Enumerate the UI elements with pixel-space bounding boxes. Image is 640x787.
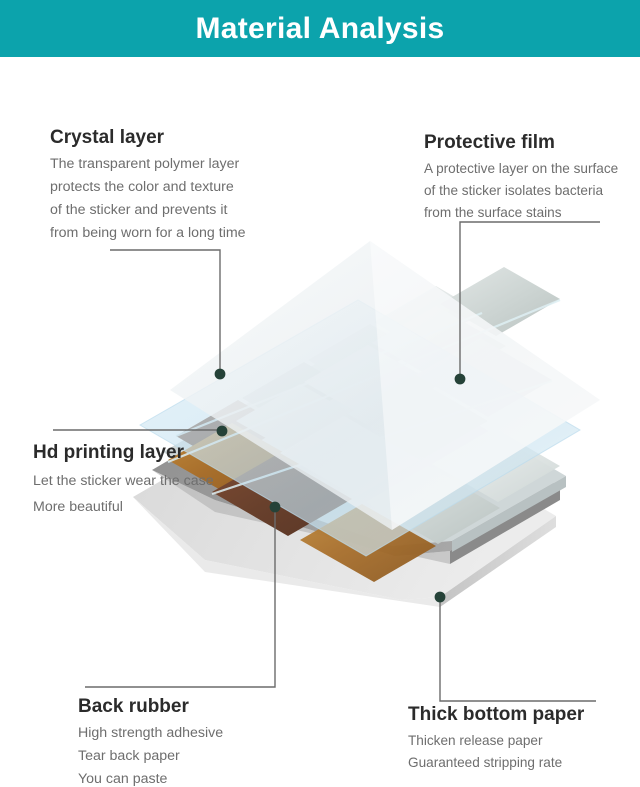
dot-back bbox=[270, 502, 281, 513]
callout-title-back-rubber: Back rubber bbox=[78, 695, 223, 719]
callout-crystal-layer: Crystal layer The transparent polymer la… bbox=[50, 126, 246, 245]
callout-line: of the sticker isolates bacteria bbox=[424, 180, 618, 202]
callout-line: Guaranteed stripping rate bbox=[408, 752, 584, 774]
dot-hd bbox=[217, 426, 228, 437]
callout-line: The transparent polymer layer bbox=[50, 153, 246, 176]
leader-thick bbox=[440, 597, 596, 701]
callout-line: More beautiful bbox=[33, 494, 214, 520]
callout-line: Let the sticker wear the case bbox=[33, 468, 214, 494]
dot-thick bbox=[435, 592, 446, 603]
callout-thick-bottom-paper: Thick bottom paper Thicken release paper… bbox=[408, 703, 584, 774]
callout-title-thick-bottom-paper: Thick bottom paper bbox=[408, 703, 584, 727]
callout-line: protects the color and texture bbox=[50, 176, 246, 199]
dot-crystal bbox=[215, 369, 226, 380]
callout-line: Tear back paper bbox=[78, 745, 223, 768]
callout-back-rubber: Back rubber High strength adhesive Tear … bbox=[78, 695, 223, 787]
callout-hd-printing-layer: Hd printing layer Let the sticker wear t… bbox=[33, 441, 214, 520]
callout-protective-film: Protective film A protective layer on th… bbox=[424, 131, 618, 224]
callout-line: from being worn for a long time bbox=[50, 222, 246, 245]
layer-stack-illustration bbox=[0, 0, 640, 787]
callout-line: from the surface stains bbox=[424, 202, 618, 224]
leader-crystal bbox=[110, 250, 220, 373]
callout-line: A protective layer on the surface bbox=[424, 158, 618, 180]
material-analysis-infographic: Material Analysis bbox=[0, 0, 640, 787]
callout-title-protective-film: Protective film bbox=[424, 131, 618, 155]
callout-line: You can paste bbox=[78, 768, 223, 787]
callout-line: of the sticker and prevents it bbox=[50, 199, 246, 222]
callout-title-crystal-layer: Crystal layer bbox=[50, 126, 246, 150]
callout-title-hd-printing-layer: Hd printing layer bbox=[33, 441, 214, 465]
callout-line: Thicken release paper bbox=[408, 730, 584, 752]
dot-protective bbox=[455, 374, 466, 385]
callout-line: High strength adhesive bbox=[78, 722, 223, 745]
